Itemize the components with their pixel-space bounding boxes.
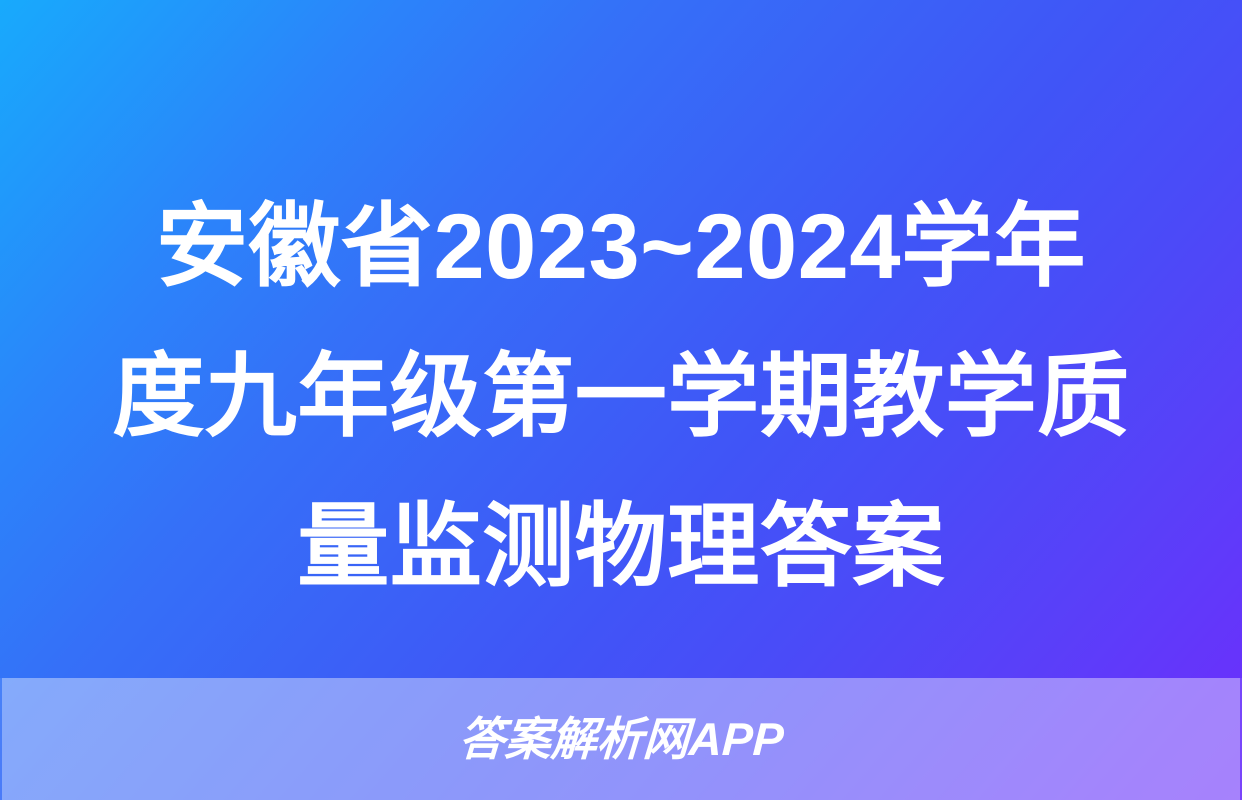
cover-card: 安徽省2023~2024学年 度九年级第一学期教学质 量监测物理答案 答案解析网… <box>0 0 1242 800</box>
title-line-1: 安徽省2023~2024学年 <box>96 172 1146 322</box>
title-line-2: 度九年级第一学期教学质 <box>96 322 1146 472</box>
watermark-text: 答案解析网APP <box>457 716 784 762</box>
title-line-3: 量监测物理答案 <box>96 472 1146 622</box>
page-title: 安徽省2023~2024学年 度九年级第一学期教学质 量监测物理答案 <box>0 172 1242 622</box>
footer-watermark-band: 答案解析网APP <box>2 678 1240 800</box>
